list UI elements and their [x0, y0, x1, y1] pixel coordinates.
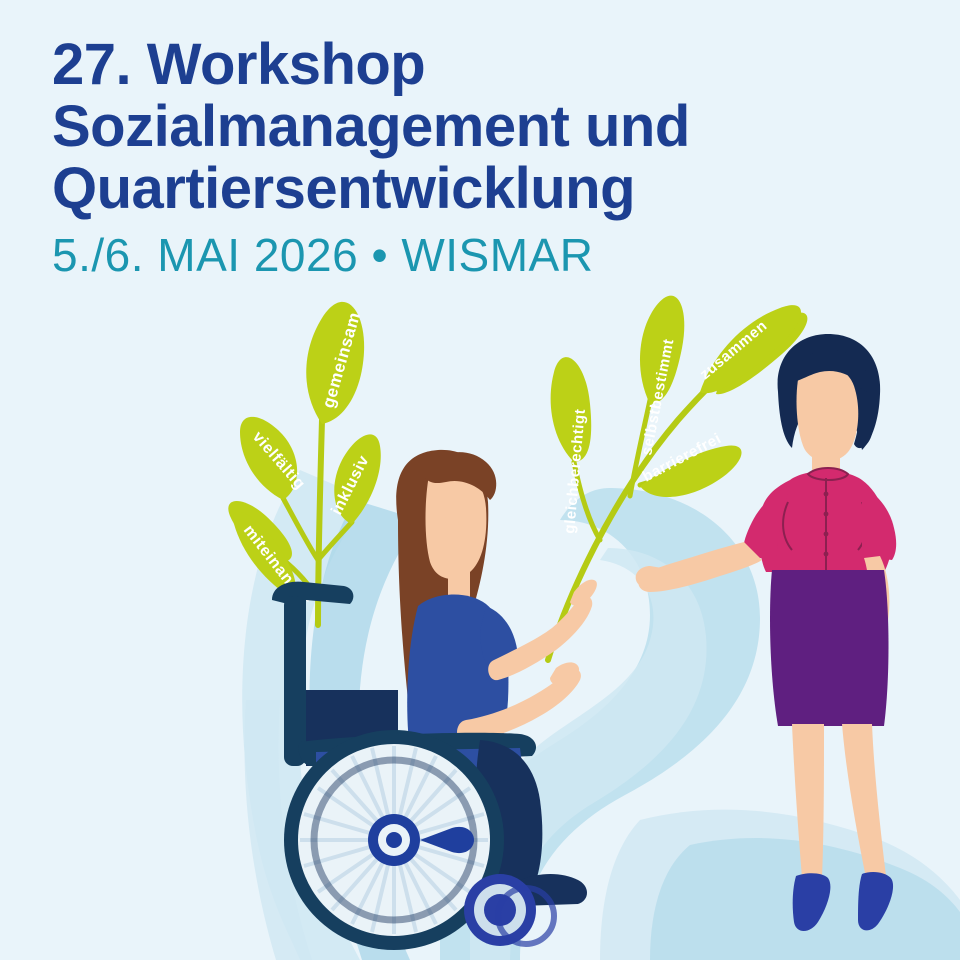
- standing-skirt: [770, 570, 889, 726]
- blouse-button: [824, 512, 829, 517]
- blouse-button: [824, 532, 829, 537]
- page-title-line-2: Sozialmanagement und: [52, 96, 912, 158]
- seated-ear: [445, 510, 459, 530]
- blouse-button: [824, 552, 829, 557]
- standing-collar: [808, 468, 848, 480]
- standing-face: [797, 365, 859, 462]
- event-date-location: 5./6. MAI 2026 • WISMAR: [52, 228, 912, 282]
- blouse-button: [824, 492, 829, 497]
- page-title-line-3: Quartiersentwicklung: [52, 158, 912, 220]
- poster-text-block: 27. Workshop Sozialmanagement und Quarti…: [52, 34, 912, 282]
- standing-left-hand: [636, 566, 666, 588]
- poster-canvas: gemeinsam vielfältig inklusiv miteinande…: [0, 0, 960, 960]
- wheelchair-back-post: [284, 596, 306, 766]
- page-title-line-1: 27. Workshop: [52, 34, 912, 96]
- wheelchair-hub-center: [386, 832, 402, 848]
